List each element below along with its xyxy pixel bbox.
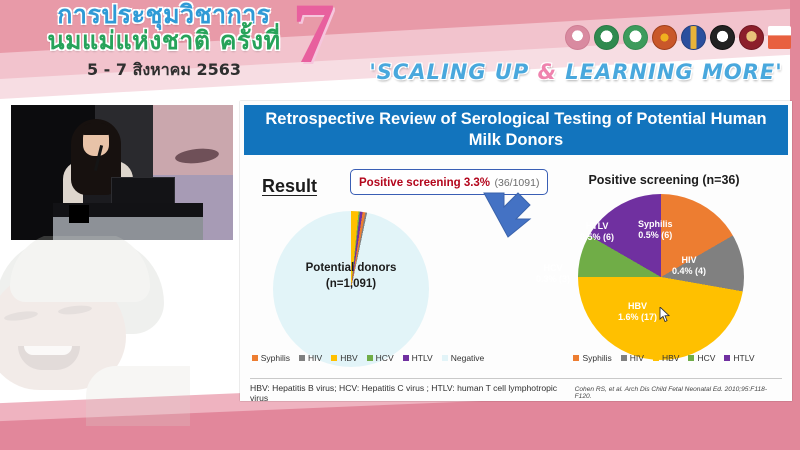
callout-secondary-text: (36/1091) [495, 177, 540, 189]
legend2-item-syphilis: Syphilis [573, 353, 611, 363]
logo-nursing-council-icon [710, 25, 735, 50]
legend2-item-htlv: HTLV [724, 353, 754, 363]
pie-label-htlv: HTLV 0.5% (6) [580, 221, 614, 244]
legend-item-negative: Negative [442, 353, 485, 363]
logo-thaihealth-sss-icon [768, 26, 791, 49]
pie-label-hbv-value: 1.6% (17) [618, 312, 657, 323]
legend-label-hbv: HBV [340, 353, 357, 363]
legend2-label-hbv: HBV [662, 353, 679, 363]
legend-label-htlv: HTLV [412, 353, 433, 363]
footnote-citation: Cohen RS, et al. Arch Dis Child Fetal Ne… [575, 386, 782, 400]
logo-medical-council-icon [739, 25, 764, 50]
conference-edition-number: 7 [292, 0, 335, 76]
logo-mahidol-university-icon [681, 25, 706, 50]
pie-label-hbv: HBV 1.6% (17) [618, 301, 657, 324]
legend2-item-hiv: HIV [621, 353, 644, 363]
conference-tagline: 'SCALING UP & LEARNING MORE' [360, 60, 792, 84]
pie-label-hiv: HIV 0.4% (4) [672, 255, 706, 278]
legend-item-syphilis: Syphilis [252, 353, 290, 363]
conference-title-line1: การประชุมวิชาการ [14, 2, 314, 27]
conference-title-line2: นมแม่แห่งชาติ ครั้งที่ [14, 28, 314, 53]
potential-donors-subtitle: (n=1,091) [273, 277, 429, 293]
legend2-item-hcv: HCV [688, 353, 715, 363]
pie-label-syphilis-value: 0.5% (6) [638, 230, 673, 241]
legend-label-negative: Negative [451, 353, 485, 363]
speaker-fringe [82, 123, 110, 135]
legend-item-hbv: HBV [331, 353, 357, 363]
podium-panel [69, 205, 89, 223]
legend2-label-syphilis: Syphilis [582, 353, 611, 363]
slide-panel: Retrospective Review of Serological Test… [240, 101, 792, 401]
pie-label-syphilis: Syphilis 0.5% (6) [638, 219, 673, 242]
legend-label-hcv: HCV [376, 353, 394, 363]
pie-label-hcv-name: HCV [536, 263, 570, 274]
legend-item-hiv: HIV [299, 353, 322, 363]
logo-department-health-icon [623, 25, 648, 50]
pie-label-hiv-name: HIV [672, 255, 706, 266]
legend2-label-hiv: HIV [630, 353, 644, 363]
mouse-cursor-icon [659, 307, 671, 323]
logo-royal-college-icon [652, 25, 677, 50]
pie-label-hiv-value: 0.4% (4) [672, 266, 706, 277]
logo-ministry-public-health-icon [594, 25, 619, 50]
conference-date: 5 - 7 สิงหาคม 2563 [14, 58, 314, 83]
tagline-part2: LEARNING MORE' [557, 60, 783, 84]
legend-potential-donors: Syphilis HIV HBV HCV HTLV Negative [258, 353, 478, 363]
pie-label-hcv: HCV 0.3% (3) [536, 263, 570, 286]
baby-teeth [24, 346, 72, 355]
pie-label-hcv-value: 0.3% (3) [536, 274, 570, 285]
legend2-label-htlv: HTLV [733, 353, 754, 363]
callout-primary-text: Positive screening 3.3% [359, 177, 490, 189]
logo-breastfeeding-foundation-icon [565, 25, 590, 50]
legend2-item-hbv: HBV [653, 353, 679, 363]
baby-hat-brim [10, 236, 150, 302]
tagline-ampersand: & [538, 60, 557, 84]
slide-footnote: HBV: Hepatitis B virus; HCV: Hepatitis C… [250, 378, 782, 403]
legend2-label-hcv: HCV [697, 353, 715, 363]
chart-potential-donors-label: Potential donors (n=1,091) [273, 261, 429, 292]
background-baby-photo [0, 236, 190, 426]
presentation-screen: การประชุมวิชาการ นมแม่แห่งชาติ ครั้งที่ … [0, 0, 800, 450]
tagline-part1: 'SCALING UP [369, 60, 537, 84]
blue-arrow-icon [478, 189, 534, 241]
pie-label-hbv-name: HBV [618, 301, 657, 312]
baby-body [86, 366, 190, 426]
conference-title-thai: การประชุมวิชาการ นมแม่แห่งชาติ ครั้งที่ … [14, 2, 314, 83]
pie-label-syphilis-name: Syphilis [638, 219, 673, 230]
pie-label-htlv-name: HTLV [580, 221, 614, 232]
footnote-abbreviations: HBV: Hepatitis B virus; HCV: Hepatitis C… [250, 383, 575, 403]
result-heading: Result [262, 176, 317, 197]
slide-title: Retrospective Review of Serological Test… [244, 105, 788, 155]
potential-donors-title: Potential donors [273, 261, 429, 277]
legend-label-syphilis: Syphilis [261, 353, 290, 363]
chart-positive-screening-title: Positive screening (n=36) [540, 173, 788, 187]
sponsor-logos [565, 24, 791, 50]
legend-positive-screening: Syphilis HIV HBV HCV HTLV [540, 353, 788, 363]
legend-item-htlv: HTLV [403, 353, 433, 363]
legend-label-hiv: HIV [308, 353, 322, 363]
legend-item-hcv: HCV [367, 353, 394, 363]
pie-label-htlv-value: 0.5% (6) [580, 232, 614, 243]
speaker-video-thumbnail[interactable] [11, 105, 233, 240]
